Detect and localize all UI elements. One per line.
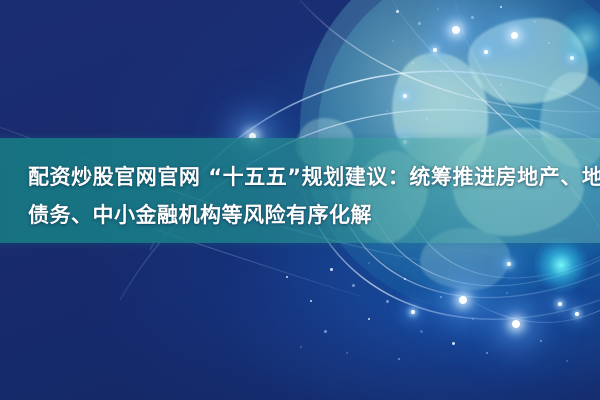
particle bbox=[548, 42, 550, 44]
particle bbox=[500, 84, 502, 86]
particle bbox=[300, 346, 302, 348]
particle bbox=[330, 268, 333, 271]
particle bbox=[471, 16, 474, 19]
particle bbox=[412, 62, 414, 64]
particle bbox=[396, 10, 399, 13]
headline-text: 配资炒股官网官网 “十五五”规划建议：统筹推进房地产、地方政府债务、中小金融机构… bbox=[28, 158, 600, 234]
network-node bbox=[403, 94, 407, 98]
particle bbox=[420, 330, 423, 333]
particle bbox=[472, 318, 474, 320]
network-node bbox=[433, 48, 437, 52]
particle bbox=[386, 300, 389, 303]
network-node bbox=[575, 312, 579, 316]
network-node bbox=[452, 26, 460, 34]
particle bbox=[440, 296, 442, 298]
particle bbox=[500, 6, 502, 8]
network-node bbox=[511, 32, 518, 39]
particle bbox=[540, 340, 542, 342]
particle bbox=[452, 342, 455, 345]
network-node bbox=[512, 320, 520, 328]
particle bbox=[386, 110, 388, 112]
particle bbox=[352, 284, 355, 287]
particle bbox=[566, 360, 568, 362]
particle bbox=[286, 276, 288, 278]
network-node bbox=[507, 262, 511, 266]
particle bbox=[418, 22, 421, 25]
network-node bbox=[411, 310, 415, 314]
banner-image: 配资炒股官网官网 “十五五”规划建议：统筹推进房地产、地方政府债务、中小金融机构… bbox=[0, 0, 600, 400]
particle bbox=[455, 72, 457, 74]
particle bbox=[310, 300, 312, 302]
particle bbox=[404, 278, 406, 280]
particle bbox=[486, 352, 488, 354]
particle bbox=[346, 352, 348, 354]
particle bbox=[368, 262, 370, 264]
particle bbox=[324, 330, 327, 333]
network-node bbox=[459, 296, 467, 304]
particle bbox=[437, 8, 439, 10]
particle bbox=[533, 20, 536, 23]
headline-text-content: 配资炒股官网官网 “十五五”规划建议：统筹推进房地产、地方政府债务、中小金融机构… bbox=[28, 158, 600, 234]
particle bbox=[392, 40, 394, 42]
particle bbox=[368, 318, 370, 320]
network-node bbox=[484, 50, 488, 54]
particle bbox=[426, 118, 428, 120]
particle bbox=[506, 292, 508, 294]
network-node bbox=[558, 302, 562, 306]
particle bbox=[398, 358, 400, 360]
